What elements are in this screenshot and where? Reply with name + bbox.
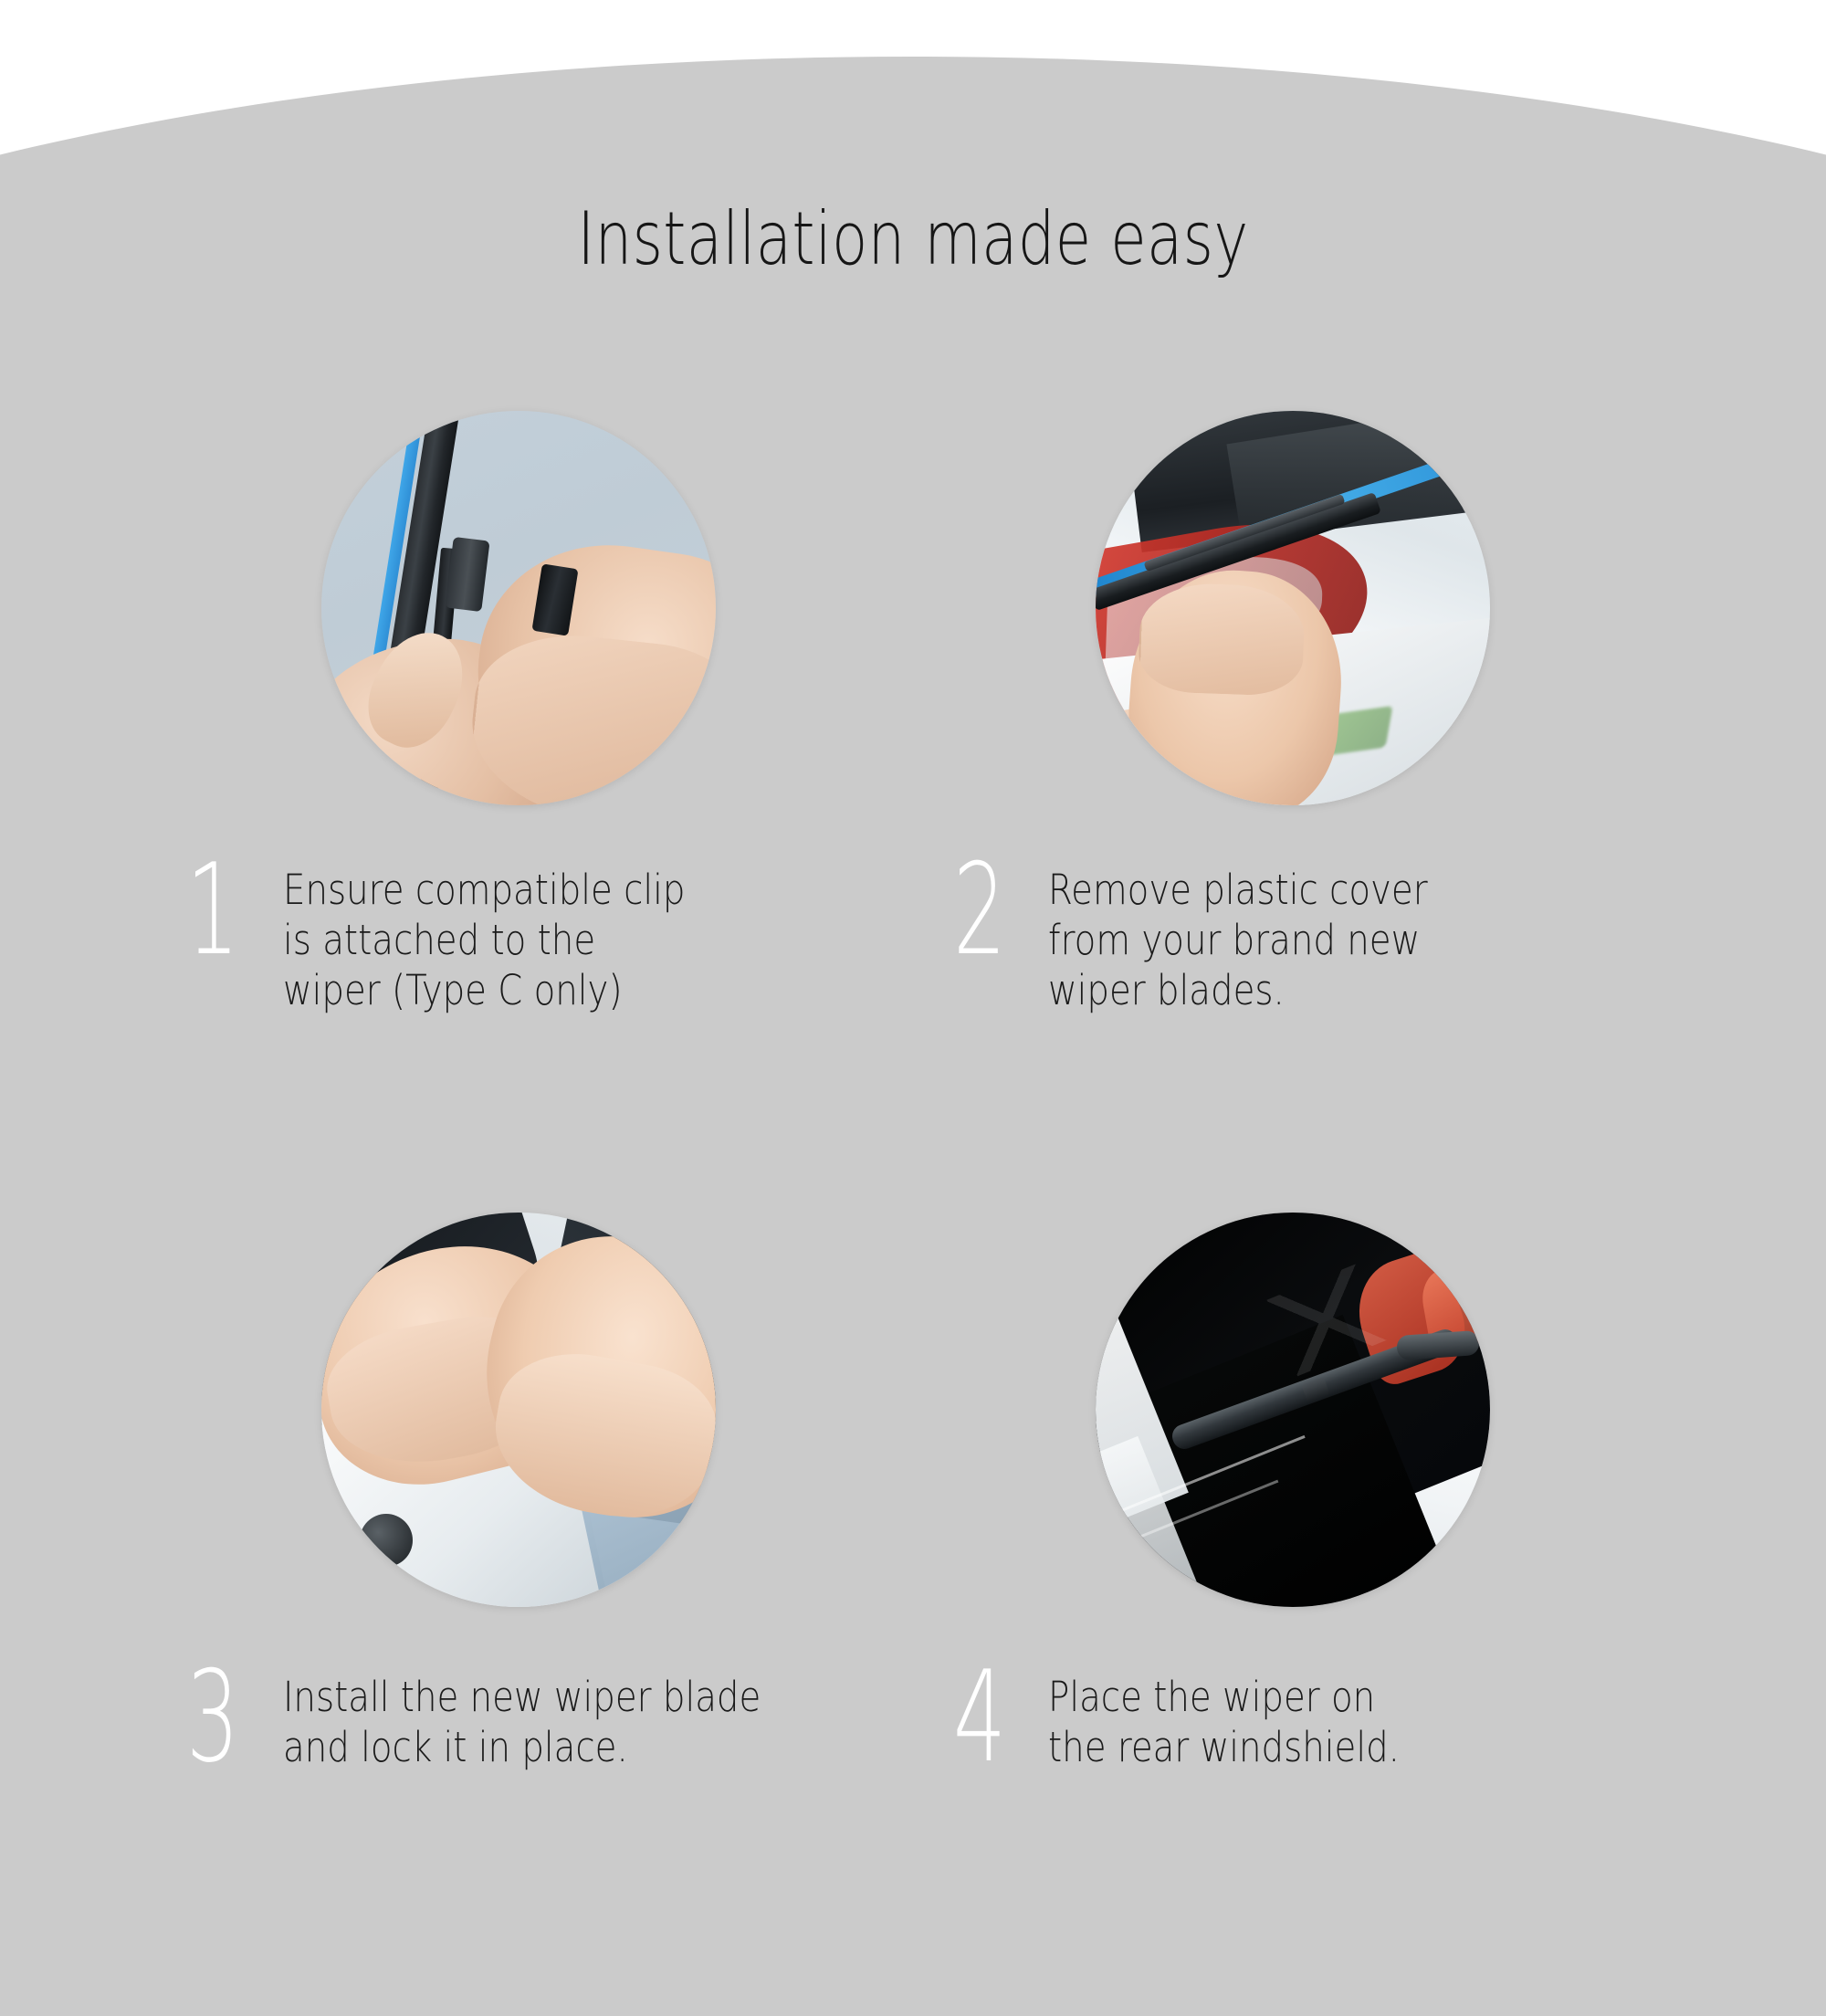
step-4-caption: 4 Place the wiper on the rear windshield… <box>950 1673 1643 1773</box>
step-3-number: 3 <box>186 1667 254 1768</box>
hand-knuckles <box>1138 582 1306 697</box>
step-4-photo <box>1096 1213 1490 1607</box>
page-title: Installation made easy <box>183 203 1643 276</box>
step-2-photo <box>1096 411 1490 805</box>
step-1-photo <box>321 411 716 805</box>
step-card-4: 4 Place the wiper on the rear windshield… <box>950 1213 1643 1773</box>
step-3-photo <box>321 1213 716 1607</box>
step-card-2: 2 Remove plastic cover from your brand n… <box>950 411 1643 1016</box>
step-card-3: 3 Install the new wiper blade and lock i… <box>183 1213 876 1773</box>
step-2-text: Remove plastic cover from your brand new… <box>1048 866 1560 1016</box>
step-4-number: 4 <box>953 1667 1020 1768</box>
step-card-1: 1 Ensure compatible clip is attached to … <box>183 411 876 1016</box>
step-3-text: Install the new wiper blade and lock it … <box>283 1673 793 1773</box>
step-3-caption: 3 Install the new wiper blade and lock i… <box>183 1673 876 1773</box>
step-1-caption: 1 Ensure compatible clip is attached to … <box>183 866 876 1016</box>
step-4-text: Place the wiper on the rear windshield. <box>1048 1673 1560 1773</box>
step-2-number: 2 <box>953 860 1020 961</box>
page-root: Installation made easy 1 Ensure compatib… <box>0 0 1826 2016</box>
door-handle-knob <box>360 1514 413 1567</box>
step-1-text: Ensure compatible clip is attached to th… <box>283 866 793 1016</box>
step-1-number: 1 <box>186 860 254 961</box>
step-2-caption: 2 Remove plastic cover from your brand n… <box>950 866 1643 1016</box>
